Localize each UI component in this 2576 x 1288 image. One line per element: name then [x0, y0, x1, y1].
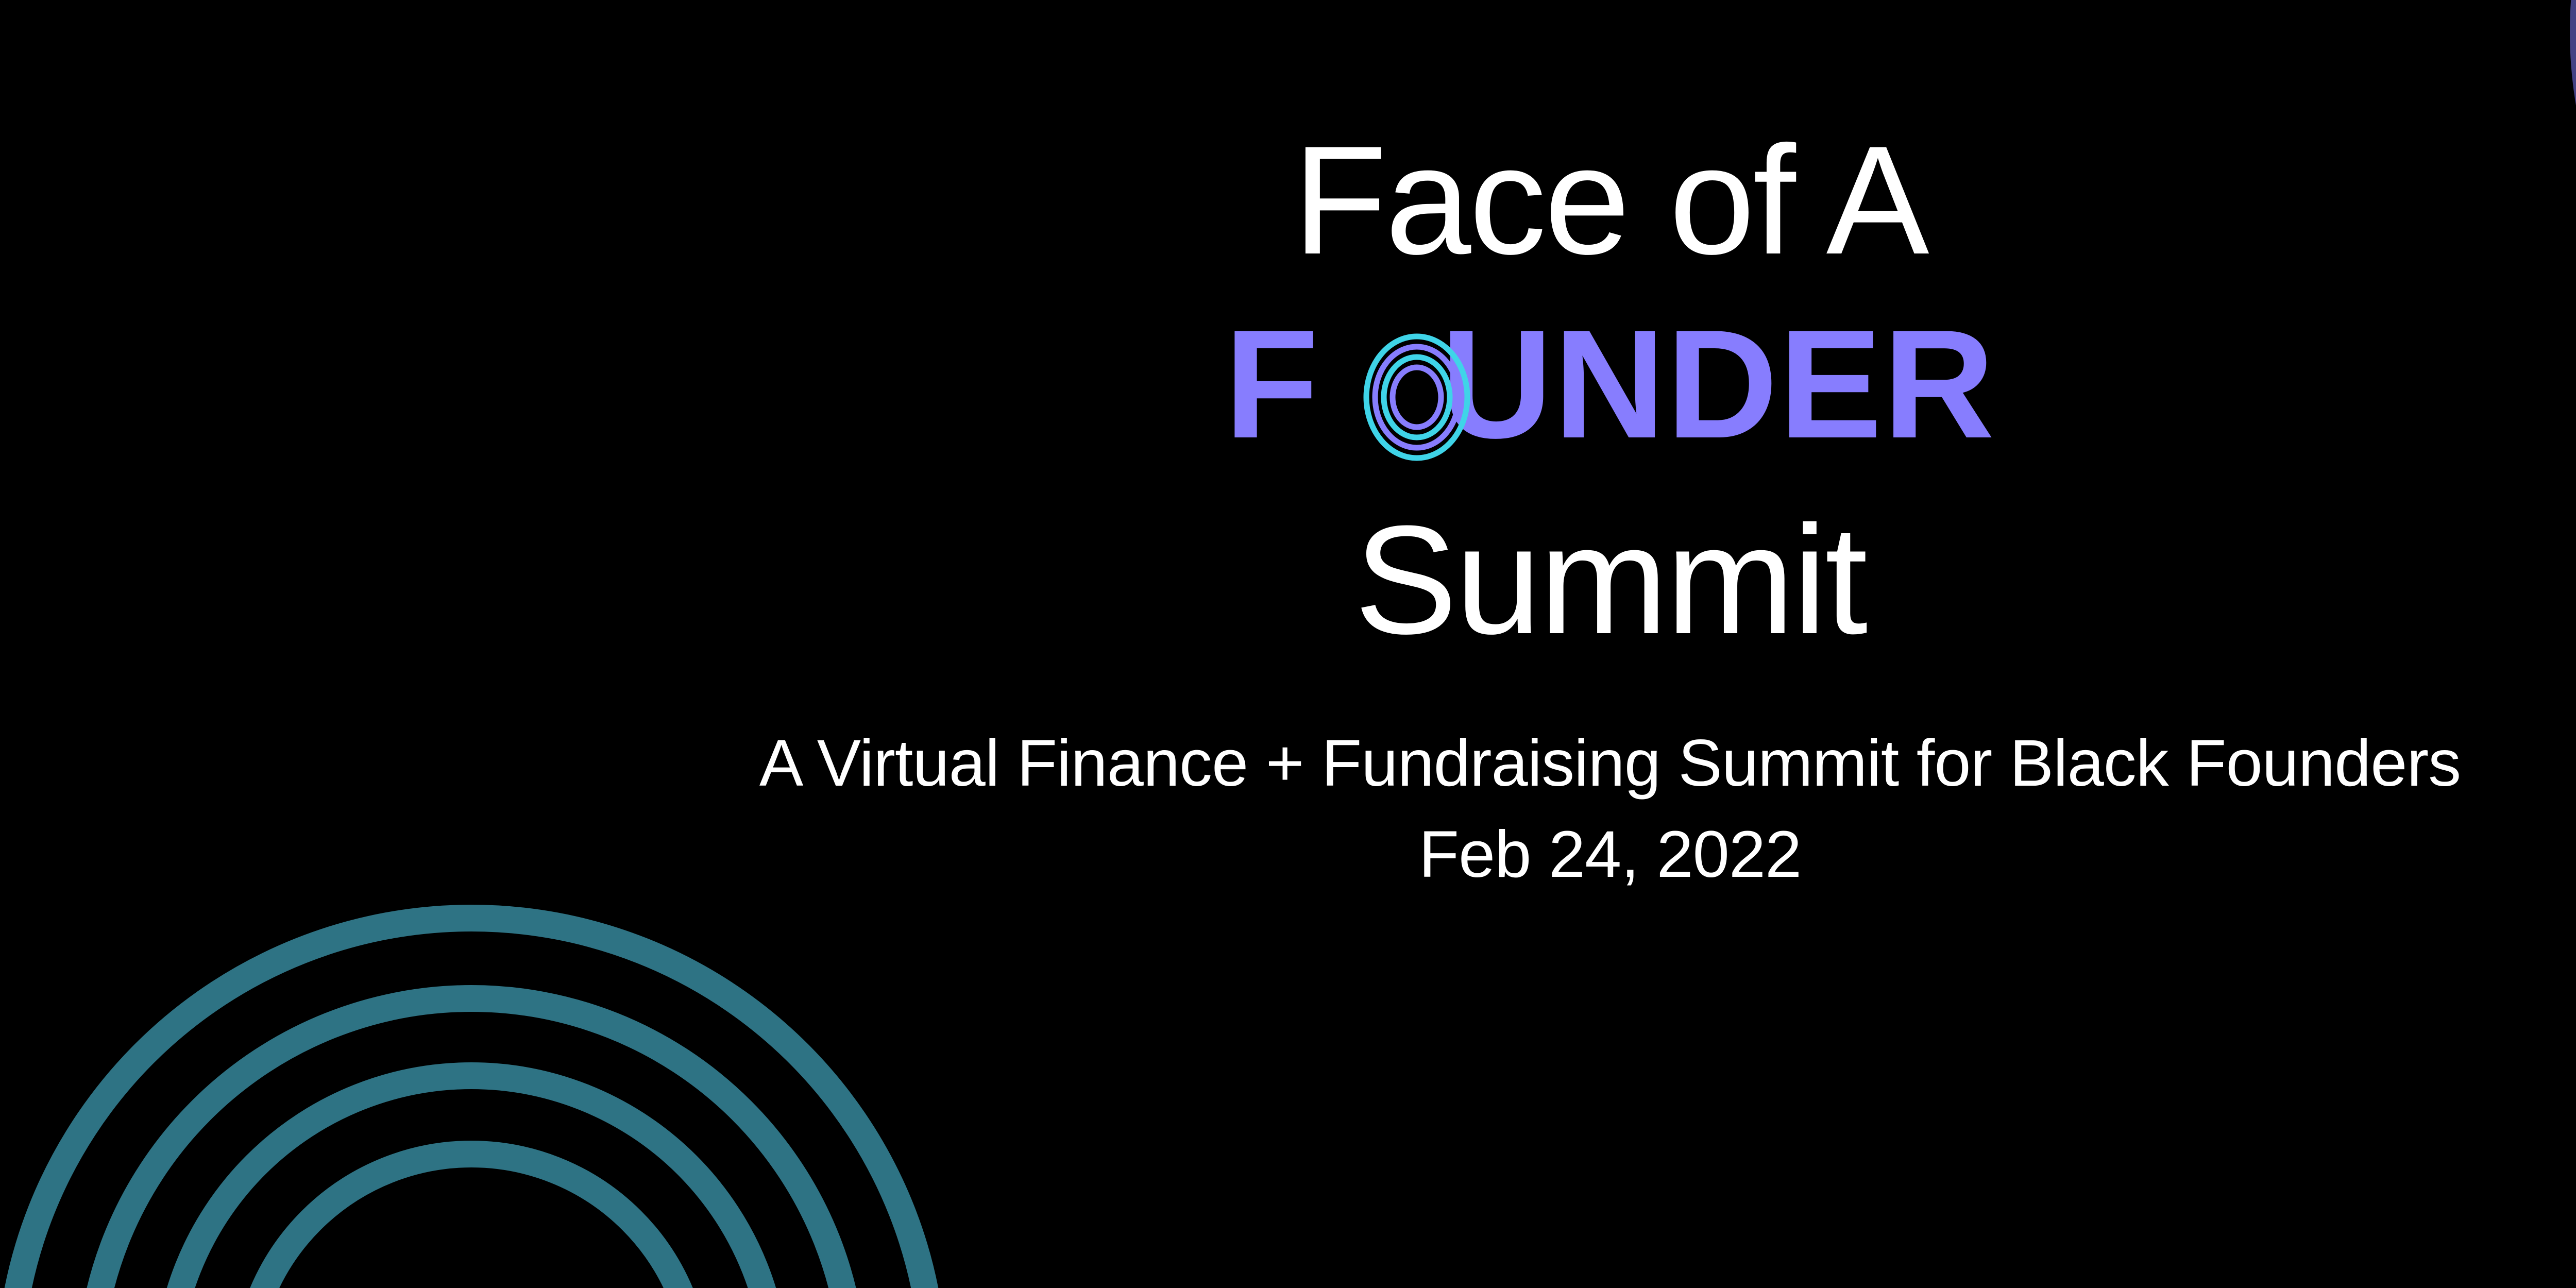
founder-suffix-letters: UNDER	[1441, 297, 1996, 470]
title-line-founder: FOUNDER	[0, 309, 2576, 459]
founder-o-rings-icon	[1363, 333, 1471, 462]
title-line-founder-wrap: FOUNDER	[0, 309, 2576, 459]
event-date-text: Feb 24, 2022	[0, 822, 2576, 888]
poster-canvas: Face of A FOUNDER Summit A Virtual Finan…	[0, 0, 2576, 1288]
title-line-summit: Summit	[0, 502, 2576, 657]
subtitle-text: A Virtual Finance + Fundraising Summit f…	[0, 731, 2576, 796]
founder-prefix-letters: F	[1224, 297, 1319, 470]
title-line-face-of-a: Face of A	[0, 123, 2576, 277]
